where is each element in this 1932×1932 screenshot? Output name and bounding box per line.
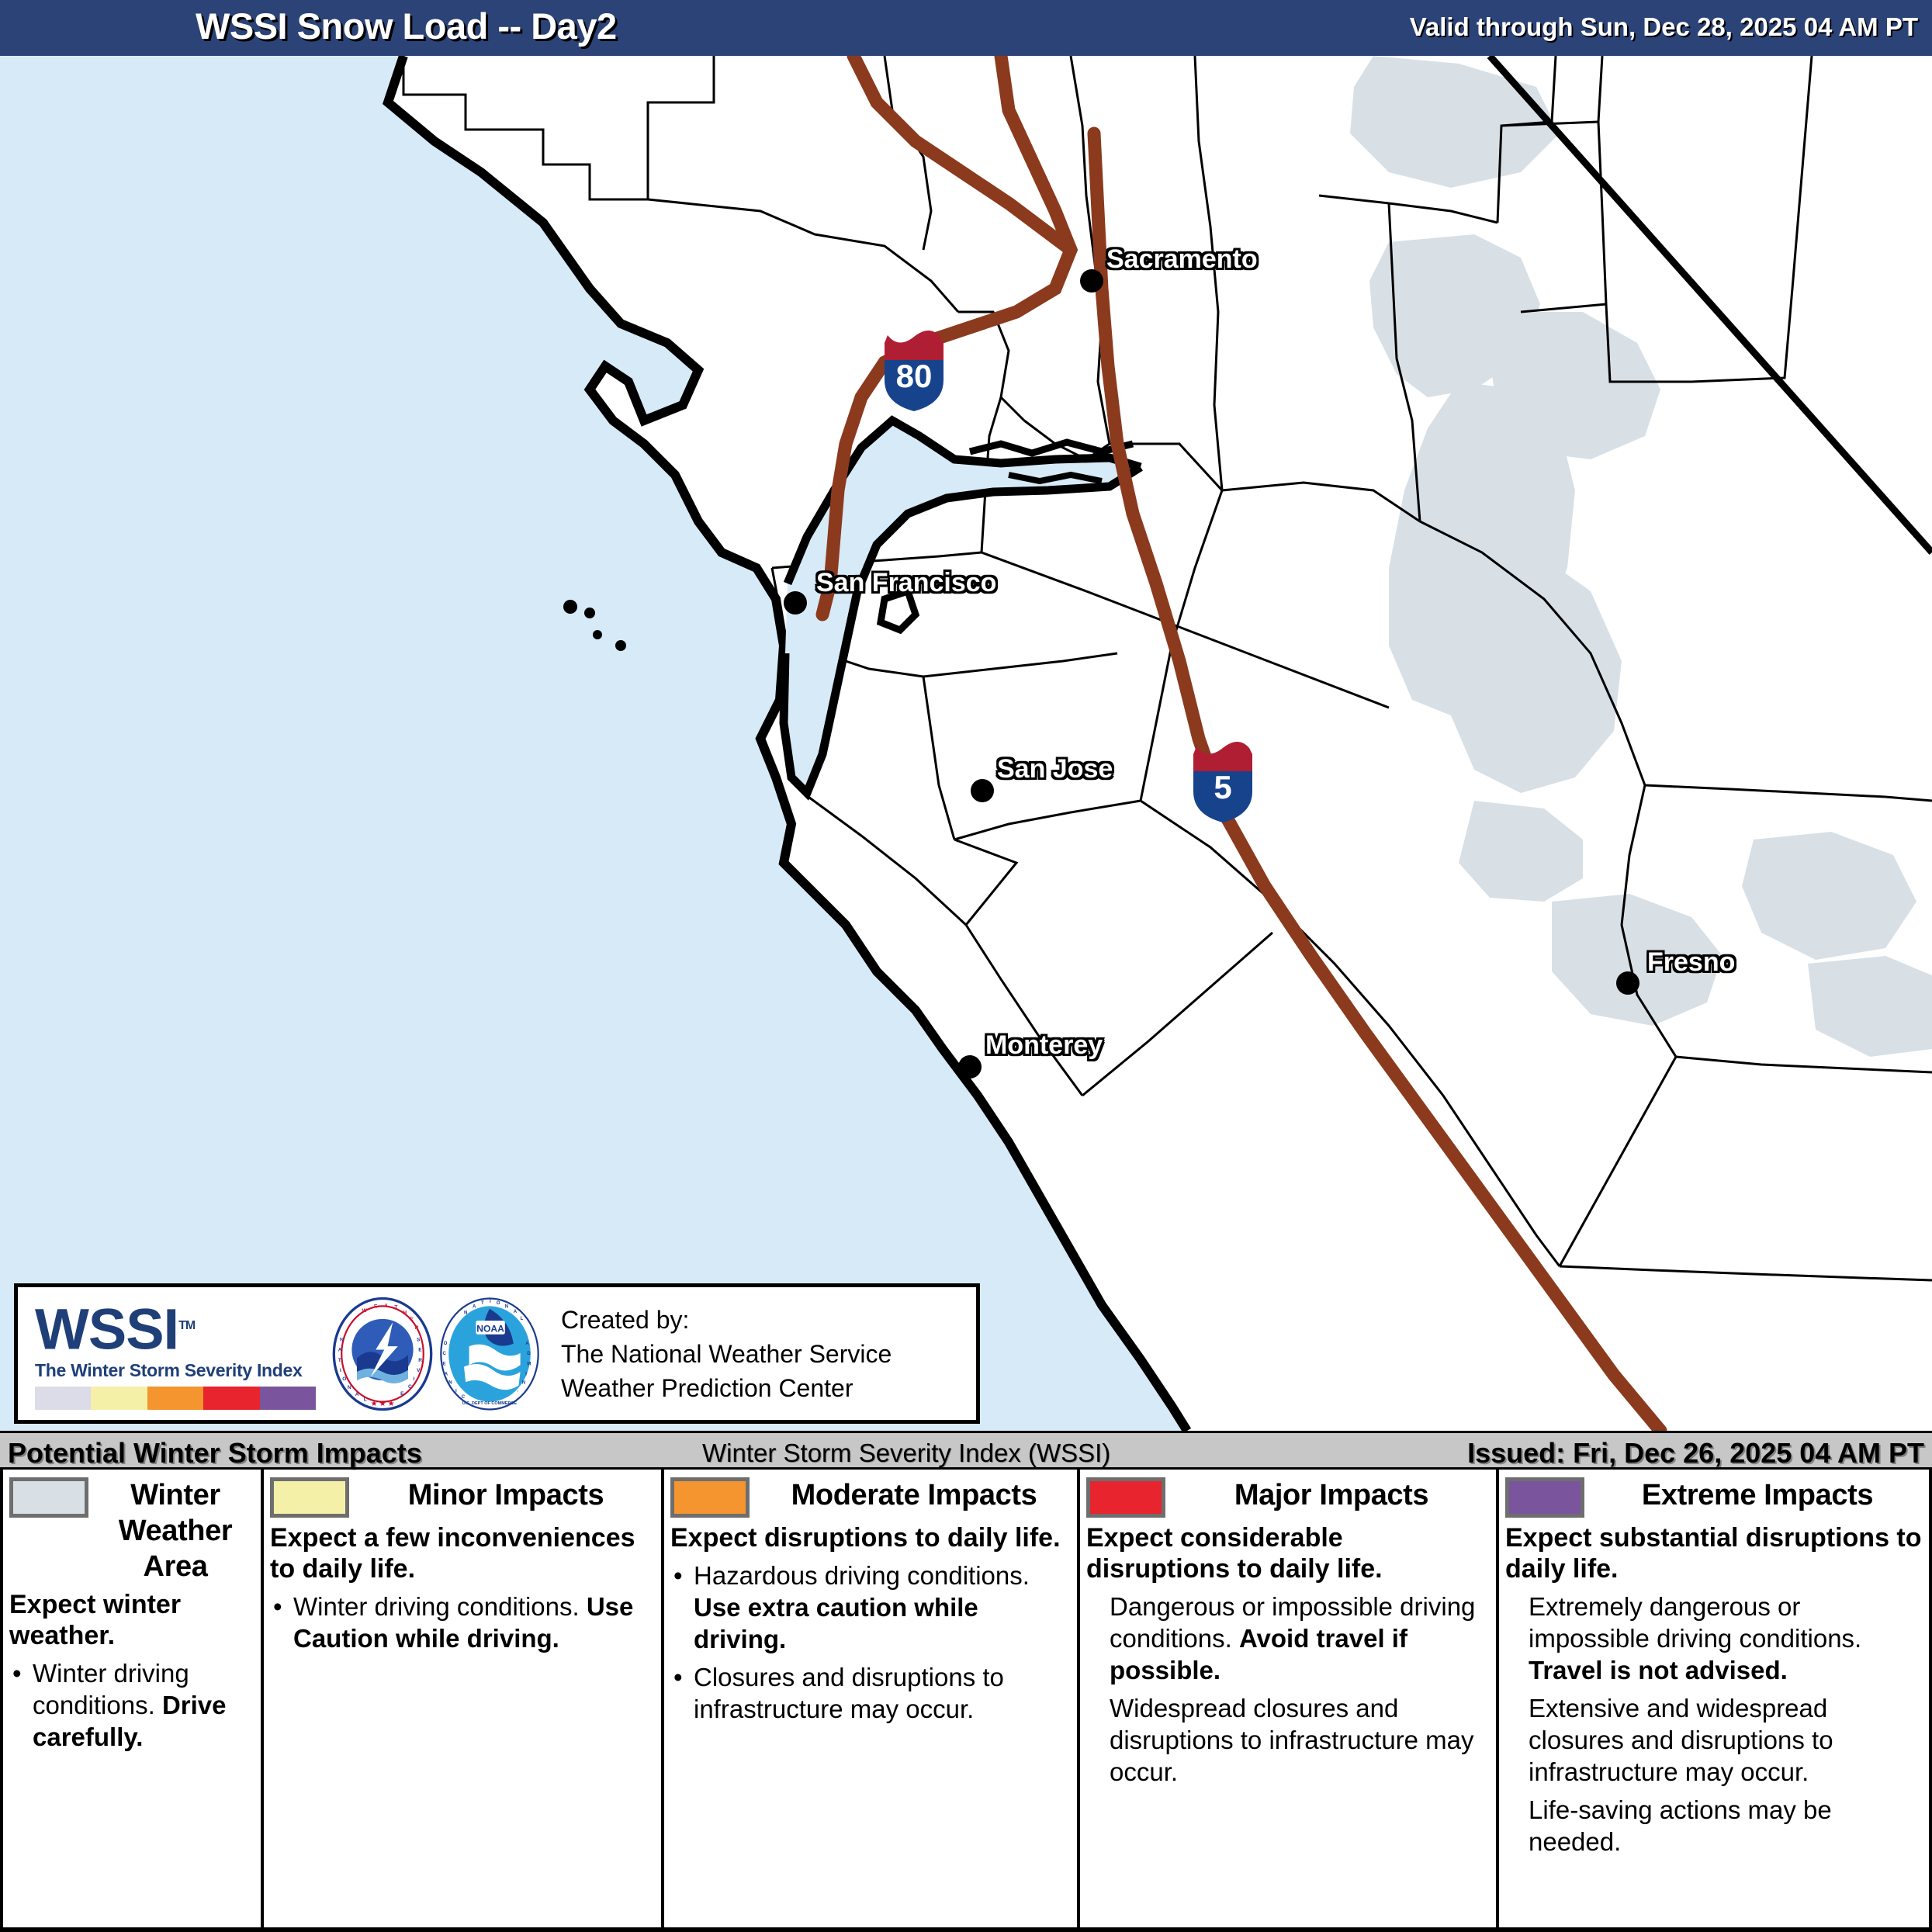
svg-text:R: R — [418, 1357, 422, 1362]
svg-text:A: A — [384, 1303, 388, 1308]
legend-column-major-impacts[interactable]: Major Impacts Expect considerable disrup… — [1080, 1470, 1499, 1927]
attribution-box: WSSITM The Winter Storm Severity Index — [14, 1283, 980, 1424]
legend-column-minor-impacts[interactable]: Minor Impacts Expect a few inconvenience… — [264, 1470, 664, 1927]
legend-bullets-minor-impacts: •Winter driving conditions. Use Caution … — [270, 1591, 655, 1654]
svg-text:R: R — [415, 1325, 419, 1331]
wssi-map-page: WSSI Snow Load -- Day2 Valid through Sun… — [0, 0, 1932, 1932]
legend-title-major-impacts: Major Impacts — [1173, 1477, 1490, 1513]
svg-text:L: L — [364, 1397, 367, 1402]
svg-text:V: V — [417, 1368, 421, 1373]
city-label-san-jose: San Jose — [997, 754, 1113, 784]
interstate-number-5: 5 — [1193, 770, 1252, 805]
svg-text:A: A — [445, 1372, 448, 1376]
svg-text:A: A — [514, 1310, 518, 1314]
svg-text:C: C — [462, 1395, 466, 1400]
svg-text:W: W — [362, 1308, 368, 1314]
svg-text:T: T — [481, 1301, 484, 1306]
wssi-color-scale — [35, 1387, 316, 1410]
status-bar-subtitle: Winter Storm Severity Index (WSSI) — [702, 1439, 1110, 1468]
city-label-sacramento: Sacramento — [1106, 244, 1258, 275]
bullet-plain: Extensive and widespread closures and di… — [1529, 1694, 1833, 1786]
svg-text:NOAA: NOAA — [476, 1323, 504, 1334]
svg-text:I: I — [525, 1372, 527, 1376]
valid-through-text: Valid through Sun, Dec 28, 2025 04 AM PT — [1410, 12, 1918, 42]
legend-bullet: Widespread closures and disruptions to i… — [1086, 1692, 1490, 1788]
legend-bullets-major-impacts: Dangerous or impossible driving conditio… — [1086, 1591, 1490, 1788]
bullet-bold: Travel is not advised. — [1529, 1656, 1788, 1684]
svg-text:I: I — [490, 1300, 491, 1304]
city-label-monterey: Monterey — [985, 1030, 1103, 1061]
svg-text:T: T — [338, 1357, 341, 1362]
legend-swatch-winter-weather-area — [9, 1477, 88, 1518]
page-header: WSSI Snow Load -- Day2 Valid through Sun… — [0, 0, 1932, 56]
svg-text:C: C — [408, 1384, 412, 1390]
wssi-wordmark: WSSITM — [35, 1297, 320, 1359]
legend-bullets-extreme-impacts: Extremely dangerous or impossible drivin… — [1505, 1591, 1923, 1858]
created-by-label: Created by: — [561, 1304, 892, 1336]
svg-text:★: ★ — [388, 1400, 395, 1408]
city-dot-san-francisco — [784, 591, 807, 615]
wssi-subtitle: The Winter Storm Severity Index — [35, 1360, 320, 1381]
svg-text:★: ★ — [379, 1400, 386, 1408]
scale-swatch-extreme — [260, 1387, 316, 1410]
legend-title-moderate-impacts: Moderate Impacts — [757, 1477, 1071, 1513]
legend-bullet: •Winter driving conditions. Drive carefu… — [9, 1657, 254, 1753]
svg-text:E: E — [418, 1347, 422, 1352]
bullet-bold: Use extra caution while driving. — [694, 1593, 978, 1653]
national-weather-service-seal: WEA THER NAT IONAL SER VICE ★★★ — [331, 1297, 434, 1411]
svg-text:N: N — [348, 1385, 351, 1390]
legend-bullet: •Winter driving conditions. Use Caution … — [270, 1591, 655, 1654]
legend-swatch-moderate-impacts — [670, 1477, 750, 1518]
city-dot-sacramento — [1080, 269, 1103, 293]
svg-text:U.S. DEPT OF COMMERCE: U.S. DEPT OF COMMERCE — [462, 1401, 518, 1405]
legend-header-winter-weather-area: Winter Weather Area — [9, 1477, 254, 1584]
scale-swatch-minor — [91, 1387, 147, 1410]
legend-header-minor-impacts: Minor Impacts — [270, 1477, 655, 1518]
legend-summary-minor-impacts: Expect a few inconveniences to daily lif… — [270, 1522, 655, 1584]
legend-bullet: Extensive and widespread closures and di… — [1505, 1692, 1923, 1788]
bullet-plain: Widespread closures and disruptions to i… — [1110, 1694, 1474, 1786]
legend-swatch-extreme-impacts — [1505, 1477, 1584, 1518]
svg-text:N: N — [522, 1380, 525, 1385]
scale-swatch-moderate — [147, 1387, 203, 1410]
legend-summary-extreme-impacts: Expect substantial disruptions to daily … — [1505, 1522, 1923, 1584]
status-bar-title: Potential Winter Storm Impacts — [8, 1437, 422, 1470]
legend-bullet: Dangerous or impossible driving conditio… — [1086, 1591, 1490, 1686]
svg-text:N: N — [340, 1337, 344, 1342]
legend-bullet: •Hazardous driving conditions. Use extra… — [670, 1560, 1071, 1655]
svg-text:N: N — [448, 1380, 452, 1385]
svg-text:C: C — [443, 1352, 447, 1356]
legend-swatch-minor-impacts — [270, 1477, 349, 1518]
svg-text:.: . — [517, 1388, 518, 1393]
interstate-number-80: 80 — [885, 358, 943, 394]
legend-header-major-impacts: Major Impacts — [1086, 1477, 1490, 1518]
svg-text:O: O — [342, 1376, 346, 1382]
svg-text:N: N — [505, 1304, 508, 1309]
legend-header-extreme-impacts: Extreme Impacts — [1505, 1477, 1923, 1518]
scale-swatch-winter-weather — [35, 1387, 91, 1410]
svg-text:A: A — [525, 1341, 529, 1345]
legend-bullet: Extremely dangerous or impossible drivin… — [1505, 1591, 1923, 1686]
legend-swatch-major-impacts — [1086, 1477, 1165, 1518]
svg-text:E: E — [374, 1304, 378, 1309]
legend-summary-moderate-impacts: Expect disruptions to daily life. — [670, 1522, 1071, 1553]
created-by-center: Weather Prediction Center — [561, 1372, 892, 1404]
svg-text:E: E — [443, 1362, 446, 1366]
wssi-trademark: TM — [178, 1319, 195, 1332]
svg-text:A: A — [473, 1304, 476, 1309]
legend-title-minor-impacts: Minor Impacts — [357, 1477, 655, 1513]
legend-column-winter-weather-area[interactable]: Winter Weather Area Expect winter weathe… — [0, 1470, 264, 1927]
legend-column-extreme-impacts[interactable]: Extreme Impacts Expect substantial disru… — [1499, 1470, 1932, 1927]
shield-label-80: 80 — [885, 335, 943, 400]
svg-text:M: M — [527, 1362, 531, 1366]
page-title: WSSI Snow Load -- Day2 — [196, 5, 617, 47]
svg-text:N: N — [464, 1311, 467, 1315]
wssi-logo: WSSITM The Winter Storm Severity Index — [18, 1297, 320, 1410]
legend-column-moderate-impacts[interactable]: Moderate Impacts Expect disruptions to d… — [664, 1470, 1080, 1927]
agency-seals: WEA THER NAT IONAL SER VICE ★★★ — [320, 1297, 552, 1411]
map-graphic — [0, 56, 1932, 1431]
svg-text:I: I — [340, 1368, 341, 1373]
impact-legend: Winter Weather Area Expect winter weathe… — [0, 1470, 1932, 1932]
city-dot-fresno — [1616, 971, 1639, 995]
city-label-fresno: Fresno — [1647, 947, 1735, 978]
legend-bullets-winter-weather-area: •Winter driving conditions. Drive carefu… — [9, 1657, 254, 1753]
svg-text:S: S — [417, 1337, 421, 1342]
legend-title-winter-weather-area: Winter Weather Area — [96, 1477, 254, 1584]
svg-text:O: O — [444, 1341, 448, 1345]
wssi-wordmark-text: WSSI — [35, 1297, 178, 1362]
noaa-seal: NOAA NAT IONAL OCE ANIC ADM IN. U.S. DEP… — [438, 1297, 541, 1411]
city-label-san-francisco: San Francisco — [816, 568, 996, 598]
legend-header-moderate-impacts: Moderate Impacts — [670, 1477, 1071, 1518]
legend-bullet: •Closures and disruptions to infrastruct… — [670, 1661, 1071, 1725]
svg-text:I: I — [414, 1376, 415, 1382]
legend-summary-winter-weather-area: Expect winter weather. — [9, 1589, 254, 1651]
svg-text:L: L — [521, 1317, 524, 1321]
city-dot-monterey — [958, 1055, 982, 1079]
bullet-icon: • — [673, 1661, 683, 1693]
svg-text:O: O — [497, 1301, 500, 1306]
bullet-plain: Extremely dangerous or impossible drivin… — [1529, 1592, 1861, 1653]
city-dot-san-jose — [971, 779, 994, 802]
status-bar: Potential Winter Storm Impacts Winter St… — [0, 1431, 1932, 1470]
legend-bullet: Life-saving actions may be needed. — [1505, 1794, 1923, 1858]
svg-text:I: I — [455, 1389, 457, 1394]
svg-text:H: H — [403, 1310, 407, 1315]
svg-text:T: T — [394, 1304, 397, 1310]
status-bar-issued: Issued: Fri, Dec 26, 2025 04 AM PT — [1467, 1437, 1924, 1470]
legend-bullets-moderate-impacts: •Hazardous driving conditions. Use extra… — [670, 1560, 1071, 1725]
bullet-plain: Closures and disruptions to infrastructu… — [694, 1663, 1004, 1723]
svg-text:E: E — [410, 1317, 414, 1322]
bullet-plain: Life-saving actions may be needed. — [1529, 1795, 1832, 1856]
shield-label-5: 5 — [1193, 746, 1252, 812]
svg-text:A: A — [355, 1391, 359, 1397]
bullet-plain: Hazardous driving conditions. — [694, 1561, 1030, 1590]
bullet-icon: • — [273, 1591, 282, 1622]
svg-text:D: D — [527, 1352, 531, 1356]
svg-text:E: E — [400, 1390, 404, 1396]
legend-summary-major-impacts: Expect considerable disruptions to daily… — [1086, 1522, 1490, 1584]
created-by-agency: The National Weather Service — [561, 1338, 892, 1370]
svg-text:★: ★ — [371, 1400, 378, 1408]
legend-title-extreme-impacts: Extreme Impacts — [1592, 1477, 1923, 1513]
created-by-block: Created by: The National Weather Service… — [552, 1304, 892, 1404]
map-canvas[interactable]: 80 5 Sacramento San Francisco San Jose F… — [0, 56, 1932, 1431]
scale-swatch-major — [203, 1387, 259, 1410]
svg-text:A: A — [338, 1347, 342, 1352]
bullet-icon: • — [12, 1657, 22, 1689]
bullet-icon: • — [673, 1560, 683, 1591]
bullet-plain: Winter driving conditions. — [293, 1592, 587, 1621]
